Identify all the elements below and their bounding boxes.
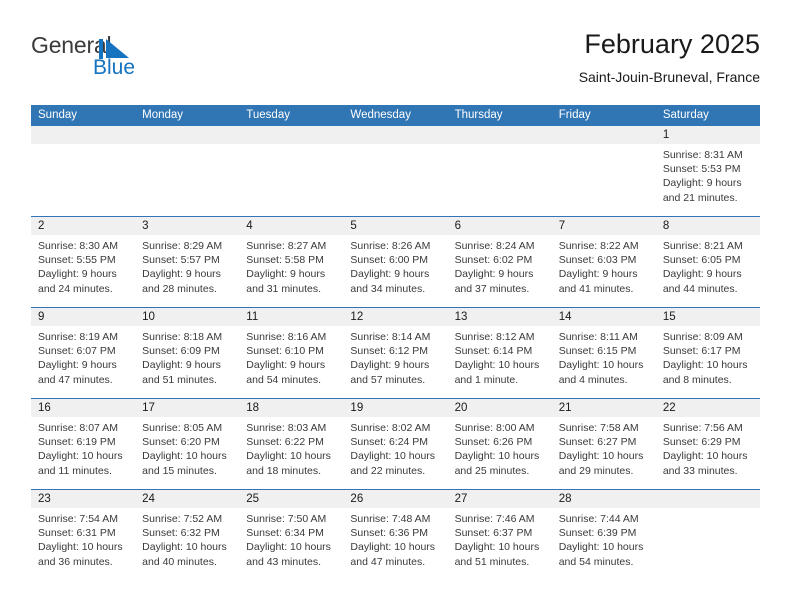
calendar-day-cell[interactable]: 22Sunrise: 7:56 AMSunset: 6:29 PMDayligh… [656, 399, 760, 489]
calendar-weeks: 1Sunrise: 8:31 AMSunset: 5:53 PMDaylight… [31, 126, 760, 580]
day-of-week-header-thursday: Thursday [448, 105, 552, 126]
daylight-text: Daylight: 9 hours and 54 minutes. [246, 358, 336, 386]
day-number: 27 [448, 490, 552, 508]
day-number: 15 [656, 308, 760, 326]
day-sun-info: Sunrise: 8:22 AMSunset: 6:03 PMDaylight:… [552, 235, 656, 296]
sunset-text: Sunset: 5:57 PM [142, 253, 232, 267]
daylight-text: Daylight: 9 hours and 24 minutes. [38, 267, 128, 295]
day-number: 3 [135, 217, 239, 235]
daylight-text: Daylight: 10 hours and 29 minutes. [559, 449, 649, 477]
calendar-day-cell-empty [31, 126, 135, 216]
day-number: 1 [656, 126, 760, 144]
page-header: General Blue February 2025 Saint-Jouin-B… [31, 28, 760, 96]
calendar-day-cell-empty [239, 126, 343, 216]
sunrise-text: Sunrise: 7:56 AM [663, 421, 753, 435]
daylight-text: Daylight: 10 hours and 47 minutes. [350, 540, 440, 568]
day-sun-info: Sunrise: 8:05 AMSunset: 6:20 PMDaylight:… [135, 417, 239, 478]
daylight-text: Daylight: 9 hours and 31 minutes. [246, 267, 336, 295]
sunrise-text: Sunrise: 8:07 AM [38, 421, 128, 435]
sunset-text: Sunset: 6:03 PM [559, 253, 649, 267]
sunset-text: Sunset: 5:53 PM [663, 162, 753, 176]
calendar-day-cell[interactable]: 13Sunrise: 8:12 AMSunset: 6:14 PMDayligh… [448, 308, 552, 398]
sunset-text: Sunset: 6:14 PM [455, 344, 545, 358]
day-sun-info: Sunrise: 7:58 AMSunset: 6:27 PMDaylight:… [552, 417, 656, 478]
sunset-text: Sunset: 5:55 PM [38, 253, 128, 267]
day-sun-info: Sunrise: 8:30 AMSunset: 5:55 PMDaylight:… [31, 235, 135, 296]
day-of-week-header-friday: Friday [552, 105, 656, 126]
calendar-day-cell-empty [656, 490, 760, 580]
calendar-day-cell-empty [135, 126, 239, 216]
day-sun-info: Sunrise: 8:21 AMSunset: 6:05 PMDaylight:… [656, 235, 760, 296]
sunrise-text: Sunrise: 8:05 AM [142, 421, 232, 435]
sunrise-text: Sunrise: 8:26 AM [350, 239, 440, 253]
day-number: 10 [135, 308, 239, 326]
sunrise-text: Sunrise: 8:18 AM [142, 330, 232, 344]
calendar-day-cell[interactable]: 11Sunrise: 8:16 AMSunset: 6:10 PMDayligh… [239, 308, 343, 398]
day-number: 21 [552, 399, 656, 417]
sunrise-text: Sunrise: 7:46 AM [455, 512, 545, 526]
calendar-day-cell[interactable]: 27Sunrise: 7:46 AMSunset: 6:37 PMDayligh… [448, 490, 552, 580]
day-sun-info: Sunrise: 7:44 AMSunset: 6:39 PMDaylight:… [552, 508, 656, 569]
daylight-text: Daylight: 10 hours and 25 minutes. [455, 449, 545, 477]
day-of-week-header-tuesday: Tuesday [239, 105, 343, 126]
calendar-day-cell[interactable]: 16Sunrise: 8:07 AMSunset: 6:19 PMDayligh… [31, 399, 135, 489]
sunrise-text: Sunrise: 8:31 AM [663, 148, 753, 162]
day-sun-info: Sunrise: 8:12 AMSunset: 6:14 PMDaylight:… [448, 326, 552, 387]
day-sun-info: Sunrise: 8:14 AMSunset: 6:12 PMDaylight:… [343, 326, 447, 387]
sunrise-text: Sunrise: 8:22 AM [559, 239, 649, 253]
sunset-text: Sunset: 6:36 PM [350, 526, 440, 540]
day-sun-info: Sunrise: 7:52 AMSunset: 6:32 PMDaylight:… [135, 508, 239, 569]
calendar-day-cell[interactable]: 14Sunrise: 8:11 AMSunset: 6:15 PMDayligh… [552, 308, 656, 398]
day-number: 5 [343, 217, 447, 235]
calendar-week-row: 16Sunrise: 8:07 AMSunset: 6:19 PMDayligh… [31, 398, 760, 489]
day-number: 28 [552, 490, 656, 508]
calendar-day-cell[interactable]: 9Sunrise: 8:19 AMSunset: 6:07 PMDaylight… [31, 308, 135, 398]
day-of-week-header-monday: Monday [135, 105, 239, 126]
day-of-week-header-sunday: Sunday [31, 105, 135, 126]
sunrise-text: Sunrise: 7:48 AM [350, 512, 440, 526]
day-sun-info: Sunrise: 8:11 AMSunset: 6:15 PMDaylight:… [552, 326, 656, 387]
calendar-page: General Blue February 2025 Saint-Jouin-B… [0, 0, 792, 612]
sunset-text: Sunset: 6:05 PM [663, 253, 753, 267]
day-number: 8 [656, 217, 760, 235]
day-sun-info: Sunrise: 7:46 AMSunset: 6:37 PMDaylight:… [448, 508, 552, 569]
day-of-week-header-saturday: Saturday [656, 105, 760, 126]
calendar-day-cell[interactable]: 24Sunrise: 7:52 AMSunset: 6:32 PMDayligh… [135, 490, 239, 580]
calendar-day-cell[interactable]: 25Sunrise: 7:50 AMSunset: 6:34 PMDayligh… [239, 490, 343, 580]
calendar-day-cell[interactable]: 20Sunrise: 8:00 AMSunset: 6:26 PMDayligh… [448, 399, 552, 489]
day-sun-info: Sunrise: 8:18 AMSunset: 6:09 PMDaylight:… [135, 326, 239, 387]
calendar-day-cell[interactable]: 28Sunrise: 7:44 AMSunset: 6:39 PMDayligh… [552, 490, 656, 580]
day-sun-info: Sunrise: 7:56 AMSunset: 6:29 PMDaylight:… [656, 417, 760, 478]
daylight-text: Daylight: 10 hours and 54 minutes. [559, 540, 649, 568]
daylight-text: Daylight: 10 hours and 11 minutes. [38, 449, 128, 477]
day-sun-info: Sunrise: 8:02 AMSunset: 6:24 PMDaylight:… [343, 417, 447, 478]
day-number: 13 [448, 308, 552, 326]
sunset-text: Sunset: 6:02 PM [455, 253, 545, 267]
brand-name-blue: Blue [93, 56, 135, 80]
day-sun-info: Sunrise: 8:29 AMSunset: 5:57 PMDaylight:… [135, 235, 239, 296]
calendar-day-cell[interactable]: 18Sunrise: 8:03 AMSunset: 6:22 PMDayligh… [239, 399, 343, 489]
sunset-text: Sunset: 6:39 PM [559, 526, 649, 540]
day-number: 11 [239, 308, 343, 326]
calendar-day-cell[interactable]: 6Sunrise: 8:24 AMSunset: 6:02 PMDaylight… [448, 217, 552, 307]
day-number: 23 [31, 490, 135, 508]
day-number: 6 [448, 217, 552, 235]
calendar-day-cell-empty [552, 126, 656, 216]
day-sun-info: Sunrise: 8:07 AMSunset: 6:19 PMDaylight:… [31, 417, 135, 478]
sunset-text: Sunset: 6:29 PM [663, 435, 753, 449]
day-sun-info: Sunrise: 7:54 AMSunset: 6:31 PMDaylight:… [31, 508, 135, 569]
day-number [552, 126, 656, 144]
calendar-day-cell[interactable]: 1Sunrise: 8:31 AMSunset: 5:53 PMDaylight… [656, 126, 760, 216]
calendar-week-row: 1Sunrise: 8:31 AMSunset: 5:53 PMDaylight… [31, 126, 760, 216]
day-number [343, 126, 447, 144]
day-sun-info: Sunrise: 8:00 AMSunset: 6:26 PMDaylight:… [448, 417, 552, 478]
calendar-day-cell[interactable]: 10Sunrise: 8:18 AMSunset: 6:09 PMDayligh… [135, 308, 239, 398]
daylight-text: Daylight: 10 hours and 4 minutes. [559, 358, 649, 386]
day-number: 2 [31, 217, 135, 235]
day-number: 19 [343, 399, 447, 417]
daylight-text: Daylight: 10 hours and 33 minutes. [663, 449, 753, 477]
sunrise-text: Sunrise: 8:14 AM [350, 330, 440, 344]
sunrise-text: Sunrise: 8:03 AM [246, 421, 336, 435]
calendar-day-cell-empty [448, 126, 552, 216]
sunset-text: Sunset: 6:17 PM [663, 344, 753, 358]
sunrise-text: Sunrise: 8:30 AM [38, 239, 128, 253]
sunrise-text: Sunrise: 8:02 AM [350, 421, 440, 435]
sunset-text: Sunset: 6:32 PM [142, 526, 232, 540]
sunset-text: Sunset: 6:27 PM [559, 435, 649, 449]
sunrise-text: Sunrise: 8:19 AM [38, 330, 128, 344]
day-sun-info: Sunrise: 8:03 AMSunset: 6:22 PMDaylight:… [239, 417, 343, 478]
brand-logo[interactable]: General Blue [31, 32, 241, 90]
calendar-day-cell[interactable]: 4Sunrise: 8:27 AMSunset: 5:58 PMDaylight… [239, 217, 343, 307]
daylight-text: Daylight: 10 hours and 43 minutes. [246, 540, 336, 568]
day-number: 18 [239, 399, 343, 417]
day-number: 24 [135, 490, 239, 508]
day-number: 9 [31, 308, 135, 326]
calendar-day-cell[interactable]: 23Sunrise: 7:54 AMSunset: 6:31 PMDayligh… [31, 490, 135, 580]
daylight-text: Daylight: 9 hours and 47 minutes. [38, 358, 128, 386]
calendar-day-cell[interactable]: 26Sunrise: 7:48 AMSunset: 6:36 PMDayligh… [343, 490, 447, 580]
sunrise-text: Sunrise: 8:12 AM [455, 330, 545, 344]
daylight-text: Daylight: 9 hours and 57 minutes. [350, 358, 440, 386]
daylight-text: Daylight: 10 hours and 40 minutes. [142, 540, 232, 568]
day-sun-info: Sunrise: 8:26 AMSunset: 6:00 PMDaylight:… [343, 235, 447, 296]
sunset-text: Sunset: 6:37 PM [455, 526, 545, 540]
day-number [135, 126, 239, 144]
sunset-text: Sunset: 6:09 PM [142, 344, 232, 358]
sunrise-text: Sunrise: 7:52 AM [142, 512, 232, 526]
sunset-text: Sunset: 6:19 PM [38, 435, 128, 449]
sunset-text: Sunset: 6:31 PM [38, 526, 128, 540]
calendar-day-cell[interactable]: 15Sunrise: 8:09 AMSunset: 6:17 PMDayligh… [656, 308, 760, 398]
daylight-text: Daylight: 10 hours and 15 minutes. [142, 449, 232, 477]
sunrise-text: Sunrise: 8:29 AM [142, 239, 232, 253]
calendar-day-cell-empty [343, 126, 447, 216]
daylight-text: Daylight: 9 hours and 37 minutes. [455, 267, 545, 295]
sunrise-text: Sunrise: 7:44 AM [559, 512, 649, 526]
sunrise-text: Sunrise: 8:27 AM [246, 239, 336, 253]
day-number: 4 [239, 217, 343, 235]
calendar-day-cell[interactable]: 7Sunrise: 8:22 AMSunset: 6:03 PMDaylight… [552, 217, 656, 307]
sunrise-text: Sunrise: 8:24 AM [455, 239, 545, 253]
calendar-grid: SundayMondayTuesdayWednesdayThursdayFrid… [31, 105, 760, 580]
sunset-text: Sunset: 6:26 PM [455, 435, 545, 449]
sunset-text: Sunset: 6:20 PM [142, 435, 232, 449]
calendar-day-cell[interactable]: 17Sunrise: 8:05 AMSunset: 6:20 PMDayligh… [135, 399, 239, 489]
day-of-week-header-wednesday: Wednesday [343, 105, 447, 126]
day-number: 26 [343, 490, 447, 508]
sunset-text: Sunset: 6:10 PM [246, 344, 336, 358]
title-block: February 2025 Saint-Jouin-Bruneval, Fran… [579, 28, 760, 85]
daylight-text: Daylight: 10 hours and 22 minutes. [350, 449, 440, 477]
calendar-day-cell[interactable]: 21Sunrise: 7:58 AMSunset: 6:27 PMDayligh… [552, 399, 656, 489]
sunset-text: Sunset: 6:07 PM [38, 344, 128, 358]
daylight-text: Daylight: 10 hours and 1 minute. [455, 358, 545, 386]
day-number: 22 [656, 399, 760, 417]
sunrise-text: Sunrise: 8:09 AM [663, 330, 753, 344]
sunrise-text: Sunrise: 8:21 AM [663, 239, 753, 253]
sunrise-text: Sunrise: 8:00 AM [455, 421, 545, 435]
calendar-week-row: 2Sunrise: 8:30 AMSunset: 5:55 PMDaylight… [31, 216, 760, 307]
daylight-text: Daylight: 10 hours and 36 minutes. [38, 540, 128, 568]
day-number: 25 [239, 490, 343, 508]
calendar-day-cell[interactable]: 19Sunrise: 8:02 AMSunset: 6:24 PMDayligh… [343, 399, 447, 489]
day-sun-info: Sunrise: 8:31 AMSunset: 5:53 PMDaylight:… [656, 144, 760, 205]
sunrise-text: Sunrise: 7:50 AM [246, 512, 336, 526]
day-number: 17 [135, 399, 239, 417]
day-sun-info: Sunrise: 7:50 AMSunset: 6:34 PMDaylight:… [239, 508, 343, 569]
day-number [239, 126, 343, 144]
calendar-day-cell[interactable]: 8Sunrise: 8:21 AMSunset: 6:05 PMDaylight… [656, 217, 760, 307]
day-sun-info: Sunrise: 8:24 AMSunset: 6:02 PMDaylight:… [448, 235, 552, 296]
daylight-text: Daylight: 9 hours and 34 minutes. [350, 267, 440, 295]
day-number [656, 490, 760, 508]
day-number: 20 [448, 399, 552, 417]
sunset-text: Sunset: 6:12 PM [350, 344, 440, 358]
day-sun-info: Sunrise: 8:16 AMSunset: 6:10 PMDaylight:… [239, 326, 343, 387]
sunset-text: Sunset: 6:15 PM [559, 344, 649, 358]
sunset-text: Sunset: 6:22 PM [246, 435, 336, 449]
sunset-text: Sunset: 6:00 PM [350, 253, 440, 267]
day-number [31, 126, 135, 144]
sunset-text: Sunset: 6:34 PM [246, 526, 336, 540]
sunrise-text: Sunrise: 7:54 AM [38, 512, 128, 526]
page-subtitle: Saint-Jouin-Bruneval, France [579, 69, 760, 85]
day-sun-info: Sunrise: 7:48 AMSunset: 6:36 PMDaylight:… [343, 508, 447, 569]
page-title: February 2025 [579, 28, 760, 60]
sunset-text: Sunset: 6:24 PM [350, 435, 440, 449]
daylight-text: Daylight: 10 hours and 8 minutes. [663, 358, 753, 386]
calendar-day-cell[interactable]: 2Sunrise: 8:30 AMSunset: 5:55 PMDaylight… [31, 217, 135, 307]
sunrise-text: Sunrise: 7:58 AM [559, 421, 649, 435]
daylight-text: Daylight: 9 hours and 51 minutes. [142, 358, 232, 386]
calendar-week-row: 9Sunrise: 8:19 AMSunset: 6:07 PMDaylight… [31, 307, 760, 398]
daylight-text: Daylight: 9 hours and 28 minutes. [142, 267, 232, 295]
sunrise-text: Sunrise: 8:11 AM [559, 330, 649, 344]
sunrise-text: Sunrise: 8:16 AM [246, 330, 336, 344]
day-number: 7 [552, 217, 656, 235]
daylight-text: Daylight: 10 hours and 18 minutes. [246, 449, 336, 477]
calendar-day-cell[interactable]: 5Sunrise: 8:26 AMSunset: 6:00 PMDaylight… [343, 217, 447, 307]
day-number: 14 [552, 308, 656, 326]
day-sun-info: Sunrise: 8:19 AMSunset: 6:07 PMDaylight:… [31, 326, 135, 387]
daylight-text: Daylight: 9 hours and 41 minutes. [559, 267, 649, 295]
daylight-text: Daylight: 9 hours and 21 minutes. [663, 176, 753, 204]
calendar-day-cell[interactable]: 12Sunrise: 8:14 AMSunset: 6:12 PMDayligh… [343, 308, 447, 398]
sunset-text: Sunset: 5:58 PM [246, 253, 336, 267]
day-number: 12 [343, 308, 447, 326]
day-sun-info: Sunrise: 8:27 AMSunset: 5:58 PMDaylight:… [239, 235, 343, 296]
calendar-week-row: 23Sunrise: 7:54 AMSunset: 6:31 PMDayligh… [31, 489, 760, 580]
daylight-text: Daylight: 9 hours and 44 minutes. [663, 267, 753, 295]
day-number: 16 [31, 399, 135, 417]
daylight-text: Daylight: 10 hours and 51 minutes. [455, 540, 545, 568]
day-number [448, 126, 552, 144]
day-sun-info: Sunrise: 8:09 AMSunset: 6:17 PMDaylight:… [656, 326, 760, 387]
calendar-day-cell[interactable]: 3Sunrise: 8:29 AMSunset: 5:57 PMDaylight… [135, 217, 239, 307]
day-of-week-header-row: SundayMondayTuesdayWednesdayThursdayFrid… [31, 105, 760, 126]
